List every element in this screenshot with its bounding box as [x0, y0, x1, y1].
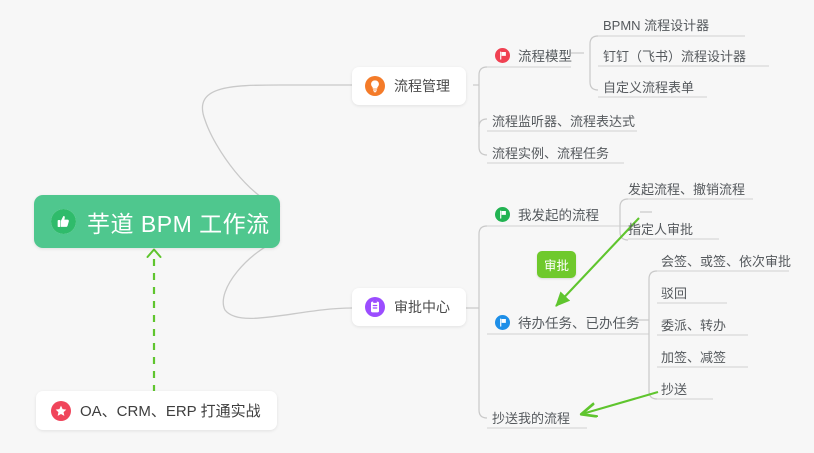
branch-label-approval-center: 审批中心 — [394, 297, 450, 317]
leaf-label-flow-listener: 流程监听器、流程表达式 — [492, 111, 635, 130]
leaf-label-delegate: 委派、转办 — [661, 315, 726, 334]
leaf-label-custom-form: 自定义流程表单 — [603, 77, 694, 96]
branch-node-flow-management[interactable]: 流程管理 — [352, 67, 466, 105]
spine-flow-management-vertical-lower — [479, 119, 487, 127]
note-node-integration[interactable]: OA、CRM、ERP 打通实战 — [36, 391, 277, 430]
leaf-label-cc: 抄送 — [661, 379, 687, 398]
root-label: 芋道 BPM 工作流 — [87, 205, 270, 239]
leaf-add-remove-sign[interactable]: 加签、减签 — [661, 346, 726, 366]
star-icon — [51, 401, 71, 421]
thumbs-up-icon — [51, 209, 76, 234]
flag-icon — [495, 207, 510, 222]
topic-label-todo-done-task: 待办任务、已办任务 — [518, 312, 640, 332]
connector-root-to-approval-center — [223, 240, 352, 318]
leaf-delegate[interactable]: 委派、转办 — [661, 314, 726, 334]
topic-flow-model[interactable]: 流程模型 — [495, 44, 572, 66]
leaf-label-add-remove-sign: 加签、减签 — [661, 347, 726, 366]
flag-icon — [495, 315, 510, 330]
leaf-label-flow-instance: 流程实例、流程任务 — [492, 143, 609, 162]
annotation-tag-approval[interactable]: 审批 — [537, 251, 576, 278]
leaf-label-assigned-approval: 指定人审批 — [628, 219, 693, 238]
dashed-arrow-head — [148, 250, 161, 258]
leaf-flow-listener[interactable]: 流程监听器、流程表达式 — [492, 110, 635, 130]
leaf-dingtalk-designer[interactable]: 钉钉（飞书）流程设计器 — [603, 45, 746, 65]
topic-todo-done-task[interactable]: 待办任务、已办任务 — [495, 311, 640, 333]
spine-flow-management-vertical — [479, 67, 487, 155]
branch-node-approval-center[interactable]: 审批中心 — [352, 288, 466, 326]
spine-approval-center-vertical — [479, 226, 487, 418]
topic-label-flow-model: 流程模型 — [518, 45, 572, 65]
leaf-label-dingtalk-designer: 钉钉（飞书）流程设计器 — [603, 46, 746, 65]
clipboard-icon — [365, 297, 385, 317]
flag-icon — [495, 48, 510, 63]
leaf-label-bpmn-designer: BPMN 流程设计器 — [603, 15, 709, 34]
lightbulb-icon — [365, 76, 385, 96]
branch-label-flow-management: 流程管理 — [394, 76, 450, 96]
leaf-countersign[interactable]: 会签、或签、依次审批 — [661, 250, 791, 270]
leaf-label-cc-my-flow: 抄送我的流程 — [492, 408, 570, 427]
spine-todo-vertical — [649, 271, 657, 399]
leaf-bpmn-designer[interactable]: BPMN 流程设计器 — [603, 14, 709, 34]
annotation-tag-approval-label: 审批 — [544, 255, 569, 274]
leaf-reject[interactable]: 驳回 — [661, 282, 687, 302]
root-node[interactable]: 芋道 BPM 工作流 — [34, 195, 280, 248]
connector-root-to-flow-management — [202, 85, 352, 207]
note-label-integration: OA、CRM、ERP 打通实战 — [80, 400, 261, 421]
leaf-label-reject: 驳回 — [661, 283, 687, 302]
mindmap-canvas: 芋道 BPM 工作流 流程管理 审批中心 — [0, 0, 814, 453]
spine-flow-model-vertical — [590, 36, 598, 90]
leaf-start-cancel-flow[interactable]: 发起流程、撤销流程 — [628, 178, 745, 198]
topic-my-started-flow[interactable]: 我发起的流程 — [495, 203, 599, 225]
leaf-label-countersign: 会签、或签、依次审批 — [661, 251, 791, 270]
spine-my-started-vertical — [620, 199, 628, 240]
leaf-cc[interactable]: 抄送 — [661, 378, 687, 398]
leaf-cc-my-flow[interactable]: 抄送我的流程 — [492, 407, 570, 427]
leaf-custom-form[interactable]: 自定义流程表单 — [603, 76, 694, 96]
green-arrow-cc-to-ccflow — [582, 392, 658, 414]
leaf-flow-instance[interactable]: 流程实例、流程任务 — [492, 142, 609, 162]
leaf-assigned-approval[interactable]: 指定人审批 — [628, 218, 693, 238]
leaf-label-start-cancel-flow: 发起流程、撤销流程 — [628, 179, 745, 198]
topic-label-my-started-flow: 我发起的流程 — [518, 204, 599, 224]
